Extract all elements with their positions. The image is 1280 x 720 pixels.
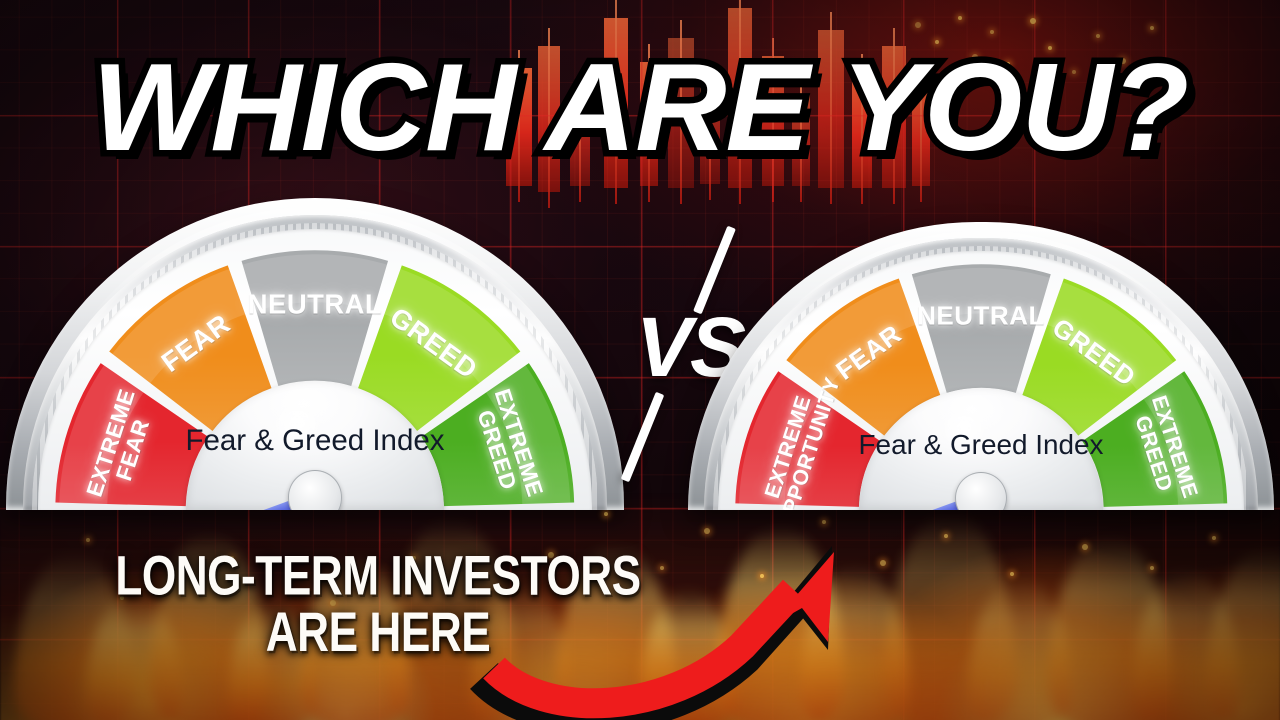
red-curved-arrow (470, 470, 890, 720)
left-gauge-title: Fear & Greed Index (54, 424, 576, 458)
poster-canvas: WHICH ARE YOU? EXTREME FEARFEARNEUTRALGR… (0, 0, 1280, 720)
right-gauge-title: Fear & Greed Index (734, 429, 1229, 461)
page-title: WHICH ARE YOU? (0, 46, 1280, 170)
left-gauge: EXTREME FEARFEARNEUTRALGREEDEXTREME GREE… (6, 198, 624, 510)
right-gauge: EXTREME OPPORTUNITYFEARNEUTRALGREEDEXTRE… (688, 222, 1274, 510)
slash-bottom-icon (621, 392, 665, 483)
